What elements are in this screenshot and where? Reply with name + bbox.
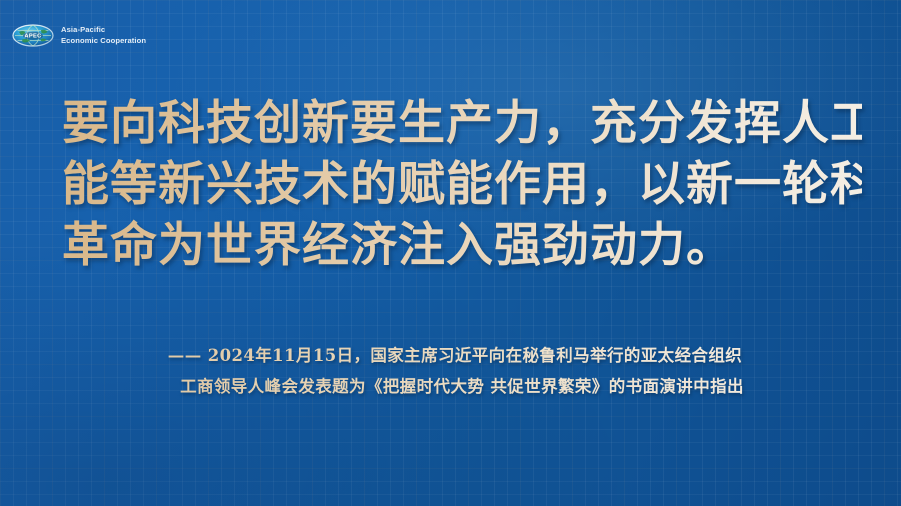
apec-logo-text-line1: Asia-Pacific [61, 25, 146, 35]
headline-line-2: 能等新兴技术的赋能作用，以新一轮科技 [62, 157, 862, 213]
apec-globe-icon: APEC [12, 24, 54, 47]
headline-line-3: 革命为世界经济注入强劲动力。 [62, 218, 862, 274]
apec-logo-text: Asia-Pacific Economic Cooperation [61, 25, 146, 45]
headline-line-1: 要向科技创新要生产力，充分发挥人工智 [62, 96, 862, 152]
attribution-block: —— 2024年11月15日，国家主席习近平向在秘鲁利马举行的亚太经合组织 工商… [62, 340, 862, 402]
attribution-line-1: —— 2024年11月15日，国家主席习近平向在秘鲁利马举行的亚太经合组织 [62, 340, 862, 371]
svg-text:APEC: APEC [24, 34, 41, 40]
quote-card: APEC Asia-Pacific Economic Cooperation 要… [0, 0, 901, 506]
headline-quote: 要向科技创新要生产力，充分发挥人工智 能等新兴技术的赋能作用，以新一轮科技 革命… [62, 96, 862, 274]
apec-logo: APEC Asia-Pacific Economic Cooperation [12, 24, 146, 47]
attribution-line-2: 工商领导人峰会发表题为《把握时代大势 共促世界繁荣》的书面演讲中指出 [62, 371, 862, 402]
apec-logo-text-line2: Economic Cooperation [61, 36, 146, 46]
